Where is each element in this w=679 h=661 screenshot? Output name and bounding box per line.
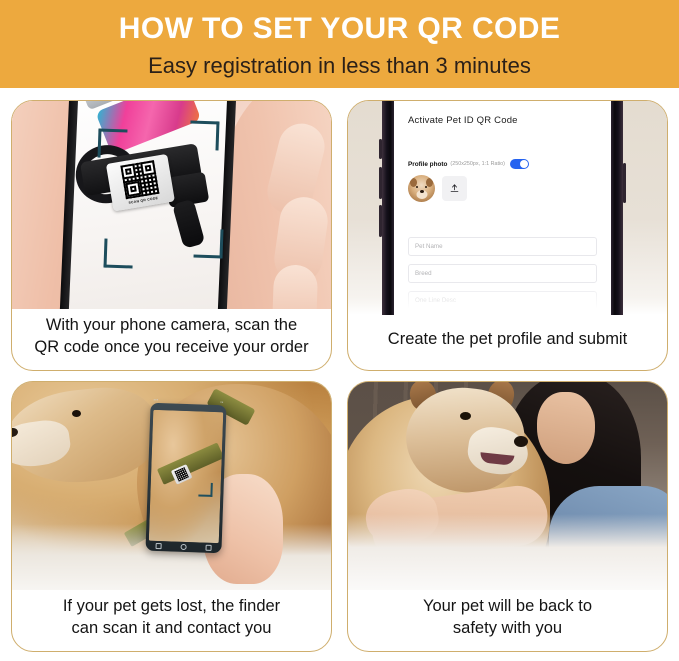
page-title: HOW TO SET YOUR QR CODE [119, 14, 560, 44]
scan-bracket-top-left-icon [98, 129, 128, 159]
pet-name-field[interactable]: Pet Name [408, 237, 597, 256]
step-3-caption-line-2: can scan it and contact you [20, 618, 323, 640]
dog-eye-icon [72, 410, 81, 417]
scan-bracket-bottom-left-icon [104, 239, 134, 269]
step-2-caption: Create the pet profile and submit [348, 315, 667, 370]
step-4-caption-line-1: Your pet will be back to [356, 596, 659, 618]
finger [272, 264, 318, 309]
app-screen-title: Activate Pet ID QR Code [408, 115, 597, 126]
profile-photo-row: Profile photo (250x250px, 1:1 Ratio) [408, 159, 597, 169]
dog-nose-icon [420, 190, 424, 193]
infographic-page: HOW TO SET YOUR QR CODE Easy registratio… [0, 0, 679, 661]
back-icon [155, 542, 161, 548]
profile-photo-toggle[interactable] [510, 159, 529, 169]
scan-bracket-bottom-right-icon [198, 482, 212, 496]
upload-photo-button[interactable] [442, 176, 467, 201]
step-card-1: SCAN QR CODE With your phone camera, sca… [11, 100, 332, 371]
step-card-2: Activate Pet ID QR Code Profile photo (2… [347, 100, 668, 371]
step-1-caption: With your phone camera, scan the QR code… [12, 309, 331, 370]
step-1-caption-line-2: QR code once you receive your order [20, 337, 323, 359]
dog-ear-icon [426, 178, 433, 187]
phone-volume-down-button [379, 205, 382, 237]
phone-volume-up-button [379, 167, 382, 199]
dog-eye-icon [460, 412, 471, 420]
avatar[interactable] [408, 175, 435, 202]
step-card-3: ▪▪▪ ▪▪ [11, 381, 332, 652]
dog-nose-icon [514, 436, 528, 447]
step-4-caption: Your pet will be back to safety with you [348, 590, 667, 651]
step-1-caption-line-1: With your phone camera, scan the [20, 315, 323, 337]
step-4-image [348, 382, 667, 590]
step-card-4: Your pet will be back to safety with you [347, 381, 668, 652]
phone-status-bar: ▪▪▪ ▪▪ [151, 397, 227, 406]
recents-icon [206, 544, 212, 550]
one-line-desc-field[interactable]: One Line Desc [408, 291, 597, 310]
phone-camera-view [149, 410, 224, 543]
step-4-caption-line-2: safety with you [356, 618, 659, 640]
dog-eye-icon [416, 186, 418, 188]
qr-finder-icon [125, 181, 141, 197]
battery-icon: ▪▪ [220, 400, 223, 404]
step-2-image: Activate Pet ID QR Code Profile photo (2… [348, 101, 667, 315]
dog-eye-icon [425, 186, 427, 188]
pet-profile-form: Pet Name Breed One Line Desc [408, 237, 597, 310]
scan-bracket-top-right-icon [190, 121, 220, 151]
step-3-caption: If your pet gets lost, the finder can sc… [12, 590, 331, 651]
phone-edge-left [382, 101, 394, 315]
scanning-phone: ▪▪▪ ▪▪ [145, 403, 226, 554]
scan-bracket-bottom-right-icon [194, 229, 224, 259]
app-screen: Activate Pet ID QR Code Profile photo (2… [394, 101, 611, 315]
profile-photo-controls [408, 175, 597, 202]
step-3-caption-line-1: If your pet gets lost, the finder [20, 596, 323, 618]
phone-power-button [623, 163, 626, 203]
qr-pet-tag: SCAN QR CODE [106, 154, 175, 212]
qr-code-icon [174, 467, 189, 482]
page-header: HOW TO SET YOUR QR CODE Easy registratio… [0, 0, 679, 88]
home-icon [180, 543, 186, 549]
page-subtitle: Easy registration in less than 3 minutes [148, 55, 531, 77]
phone-button [379, 139, 382, 159]
profile-photo-label: Profile photo [408, 161, 447, 168]
breed-field[interactable]: Breed [408, 264, 597, 283]
step-3-image: ▪▪▪ ▪▪ [12, 382, 331, 590]
upload-icon [449, 183, 460, 194]
floor [348, 514, 667, 590]
steps-grid: SCAN QR CODE With your phone camera, sca… [11, 100, 668, 652]
phone-edge-right [611, 101, 623, 315]
signal-icon: ▪▪▪ [154, 398, 159, 402]
woman-face [537, 392, 595, 464]
phone-nav-bar [145, 541, 221, 553]
profile-photo-hint: (250x250px, 1:1 Ratio) [450, 161, 505, 167]
qr-code-icon [120, 160, 159, 199]
step-1-image: SCAN QR CODE [12, 101, 331, 309]
